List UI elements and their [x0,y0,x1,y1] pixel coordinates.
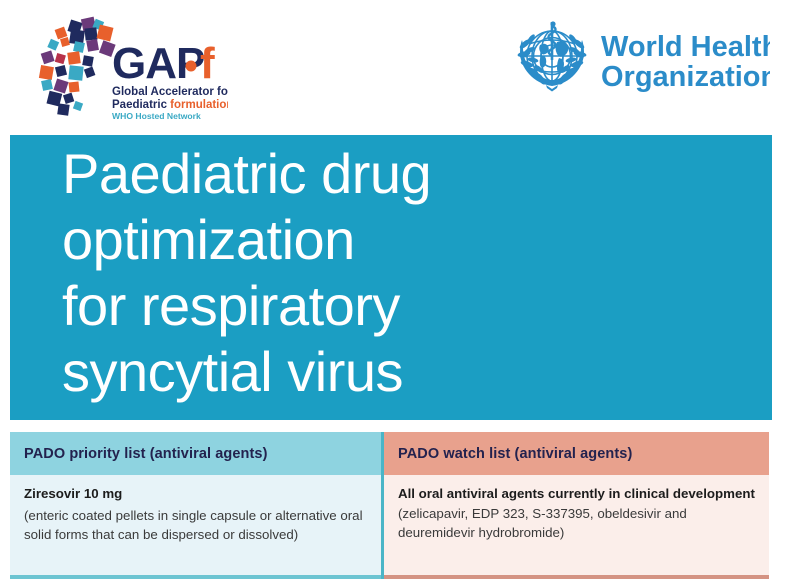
pado-watch-column: PADO watch list (antiviral agents) All o… [384,432,769,579]
gapf-logo: GAP f Global Accelerator for Paediatric … [28,16,228,120]
who-logo: World Health Organization [508,14,770,102]
gapf-tagline-line3: WHO Hosted Network [112,111,201,120]
pado-watch-body: All oral antiviral agents currently in c… [384,475,769,579]
pado-priority-column: PADO priority list (antiviral agents) Zi… [10,432,384,579]
priority-item-detail: (enteric coated pellets in single capsul… [24,506,367,545]
watch-item-paragraph: All oral antiviral agents currently in c… [398,484,755,543]
pado-priority-body: Ziresovir 10 mg (enteric coated pellets … [10,475,381,579]
logo-header-bar: GAP f Global Accelerator for Paediatric … [0,0,800,128]
svg-text:f: f [200,39,215,88]
gapf-wordmark: GAP f [112,39,215,88]
priority-item-title: Ziresovir 10 mg [24,484,367,504]
pado-priority-header: PADO priority list (antiviral agents) [10,432,381,475]
gapf-mosaic-icon [39,17,116,116]
page-title: Paediatric drug optimization for respira… [62,141,431,405]
gapf-tagline-line2: Paediatric formulations [112,99,228,111]
pado-lists-table: PADO priority list (antiviral agents) Zi… [10,432,772,579]
pado-watch-header: PADO watch list (antiviral agents) [384,432,769,475]
watch-item-title: All oral antiviral agents currently in c… [398,486,755,501]
who-name-line2: Organization [601,61,770,93]
watch-item-detail: (zelicapavir, EDP 323, S-337395, obeldes… [398,506,687,541]
who-name-line1: World Health [601,31,770,63]
title-banner: Paediatric drug optimization for respira… [10,135,772,420]
gapf-tagline-line1: Global Accelerator for [112,86,228,98]
